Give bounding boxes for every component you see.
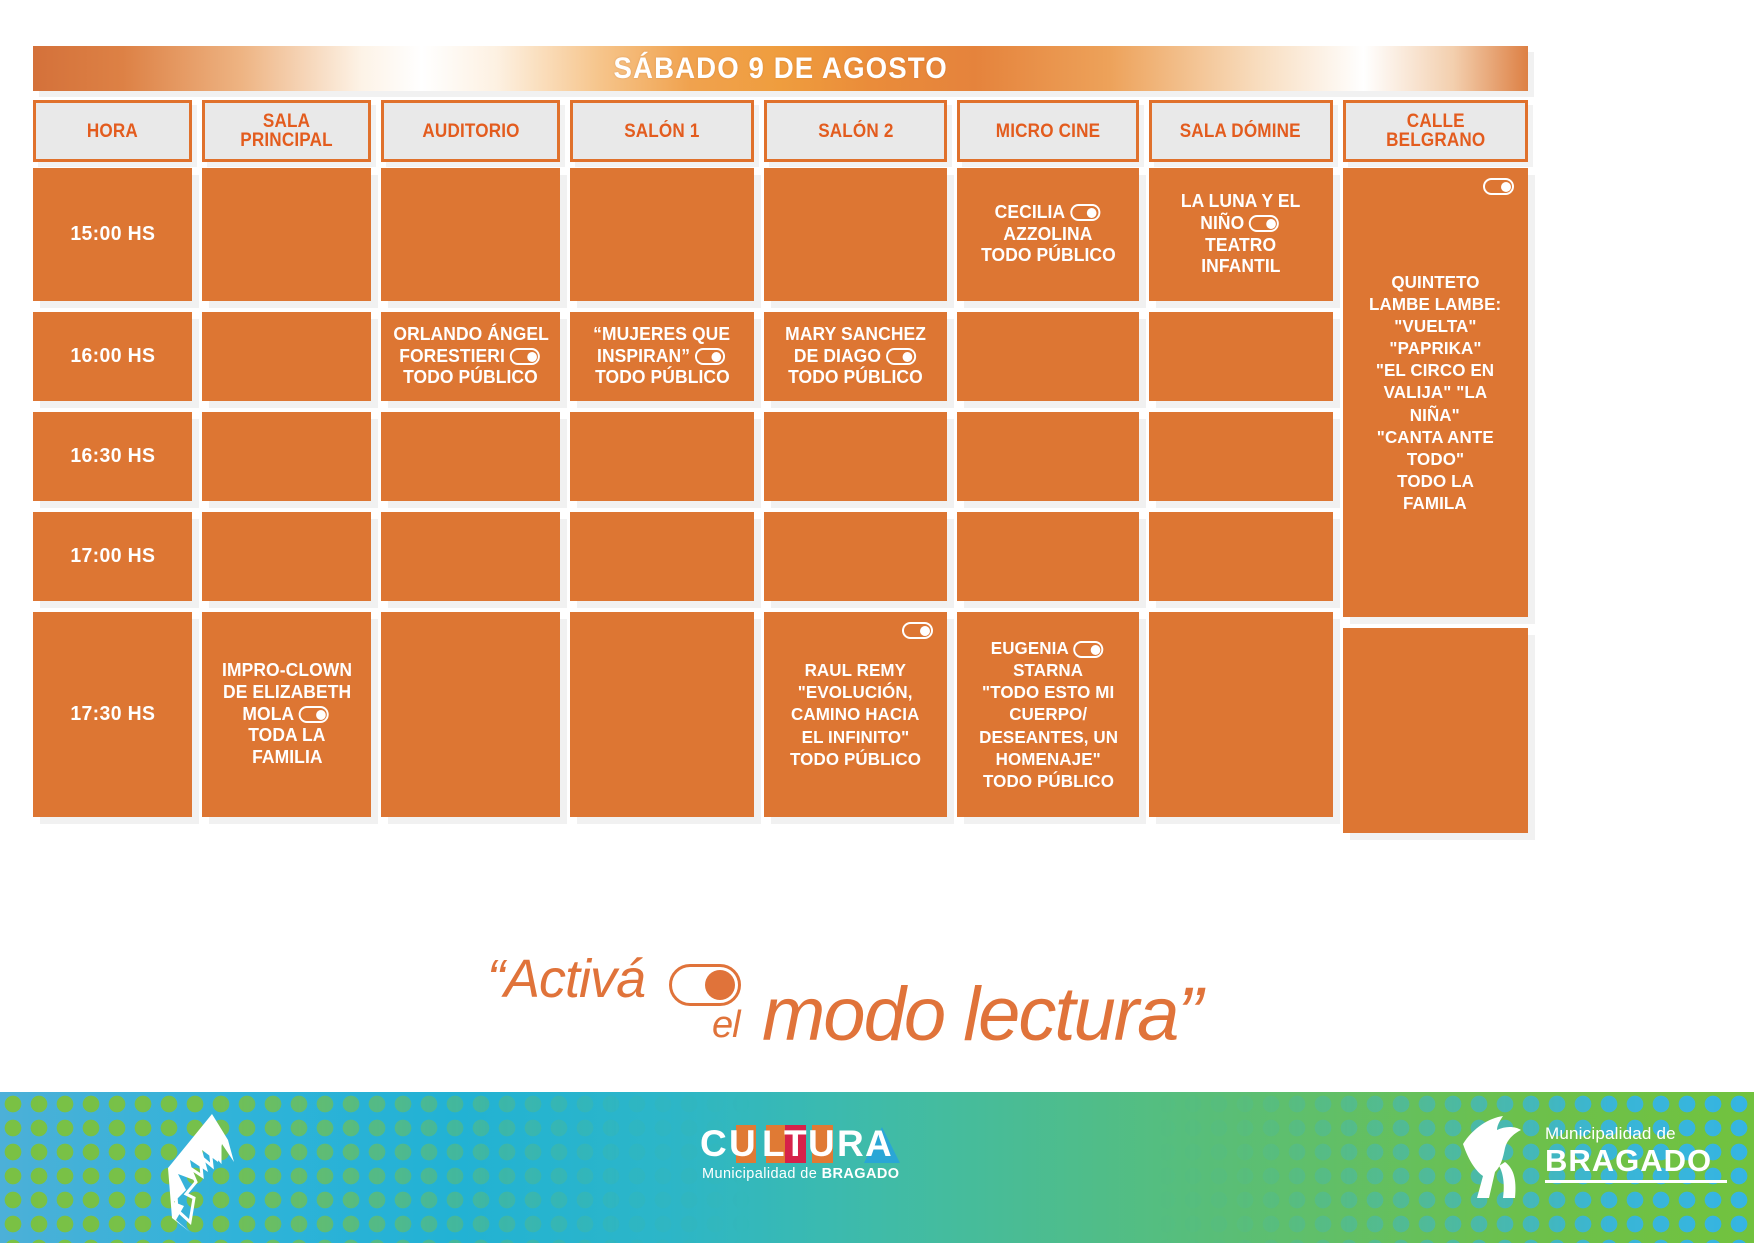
event-line: HOMENAJE"	[996, 748, 1101, 770]
event-audience: TODO LA	[1397, 470, 1474, 492]
event-line: "PAPRIKA"	[1389, 337, 1481, 359]
reading-mode-toggle-icon	[510, 348, 540, 365]
event-line-with-toggle: NIÑO	[1200, 213, 1281, 235]
cultura-subtitle: Municipalidad de BRAGADO	[702, 1166, 899, 1182]
event-cell-empty[interactable]	[957, 512, 1139, 601]
bragado-title: BRAGADO	[1545, 1143, 1712, 1179]
event-cell-empty[interactable]	[381, 612, 560, 817]
event-cell-empty[interactable]	[202, 312, 371, 401]
event-line-with-toggle: EUGENIA	[991, 637, 1106, 659]
event-line: QUINTETO	[1391, 271, 1479, 293]
reading-mode-toggle-icon	[1483, 178, 1514, 195]
event-line-with-toggle: DE DIAGO	[794, 346, 918, 368]
event-cell-empty[interactable]	[570, 512, 754, 601]
event-cell-empty[interactable]	[1343, 628, 1528, 833]
event-cell-empty[interactable]	[1149, 312, 1333, 401]
event-line: NIÑO	[1200, 213, 1244, 233]
cultura-letter: T	[784, 1124, 807, 1164]
event-audience: TODO PÚBLICO	[595, 367, 730, 389]
column-auditorio: ORLANDO ÁNGEL FORESTIERI TODO PÚBLICO	[381, 168, 560, 833]
event-cell-mary-sanchez-de-diago[interactable]: MARY SANCHEZ DE DIAGO TODO PÚBLICO	[764, 312, 948, 401]
event-line: RAUL REMY	[805, 659, 906, 681]
event-cell-empty[interactable]	[570, 612, 754, 817]
event-line: TEATRO	[1205, 235, 1276, 257]
event-cell-orlando-forestieri[interactable]: ORLANDO ÁNGEL FORESTIERI TODO PÚBLICO	[381, 312, 560, 401]
hour-cell: 17:30 HS	[33, 612, 192, 817]
event-line: "VUELTA"	[1394, 315, 1476, 337]
column-header-auditorio: AUDITORIO	[381, 100, 560, 162]
column-header-label: SALA DÓMINE	[1180, 122, 1301, 141]
hour-cell: 16:00 HS	[33, 312, 192, 401]
column-hora: 15:00 HS 16:00 HS 16:30 HS 17:00 HS 17:3…	[33, 168, 192, 833]
column-header-label: HORA	[87, 122, 138, 141]
event-line: CAMINO HACIA	[791, 703, 919, 725]
event-cell-empty[interactable]	[570, 412, 754, 501]
column-header-label: SALÓN 1	[624, 122, 699, 141]
bragado-subtitle: Municipalidad de	[1545, 1124, 1676, 1144]
event-line: AZZOLINA	[1004, 224, 1093, 246]
column-header-sala-principal: SALA PRINCIPAL	[202, 100, 371, 162]
event-cell-impro-clown[interactable]: IMPRO-CLOWN DE ELIZABETH MOLA TODA LA FA…	[202, 612, 371, 817]
event-cell-quinteto-lambe-lambe[interactable]: QUINTETO LAMBE LAMBE: "VUELTA" "PAPRIKA"…	[1343, 168, 1528, 617]
event-cell-empty[interactable]	[764, 168, 948, 301]
event-cell-mujeres-que-inspiran[interactable]: “MUJERES QUE INSPIRAN” TODO PÚBLICO	[570, 312, 754, 401]
event-audience: TODO PÚBLICO	[981, 245, 1116, 267]
event-line: "TODO ESTO MI	[982, 681, 1114, 703]
event-line-with-toggle: MOLA	[243, 704, 332, 726]
cultura-letter: L	[762, 1124, 785, 1164]
event-line: FORESTIERI	[400, 346, 506, 366]
event-line: CUERPO/	[1009, 703, 1087, 725]
bragado-logo: Municipalidad de BRAGADO	[1455, 1110, 1725, 1200]
cultura-subtitle-bold: BRAGADO	[822, 1166, 900, 1182]
event-cell-empty[interactable]	[764, 412, 948, 501]
event-cell-empty[interactable]	[1149, 412, 1333, 501]
event-line: LAMBE LAMBE:	[1369, 293, 1501, 315]
column-salon-2: MARY SANCHEZ DE DIAGO TODO PÚBLICO RAUL …	[764, 168, 948, 833]
column-header-calle-belgrano: CALLE BELGRANO	[1343, 100, 1528, 162]
event-audience: FAMILA	[1403, 492, 1467, 514]
cultura-letter: R	[837, 1124, 864, 1164]
event-cell-empty[interactable]	[202, 412, 371, 501]
event-line-with-toggle: INSPIRAN”	[597, 346, 727, 368]
column-micro-cine: CECILIA AZZOLINA TODO PÚBLICO EUGENIA ST…	[957, 168, 1139, 833]
event-line: TODO"	[1407, 448, 1464, 470]
horse-pen-icon	[150, 1110, 260, 1235]
event-line: VALIJA" "LA	[1383, 381, 1487, 403]
hour-cell: 16:30 HS	[33, 412, 192, 501]
event-line: STARNA	[1013, 659, 1083, 681]
column-salon-1: “MUJERES QUE INSPIRAN” TODO PÚBLICO	[570, 168, 754, 833]
event-cell-empty[interactable]	[957, 412, 1139, 501]
cultura-logo: C U L T U R A Municipalidad de BRAGADO	[700, 1124, 900, 1186]
event-line: ORLANDO ÁNGEL	[393, 324, 548, 346]
event-line: MARY SANCHEZ	[785, 324, 926, 346]
column-header-salon-2: SALÓN 2	[764, 100, 948, 162]
event-line: IMPRO-CLOWN	[222, 660, 352, 682]
event-line: "CANTA ANTE	[1377, 426, 1494, 448]
reading-mode-toggle-icon	[299, 706, 329, 723]
column-sala-domine: LA LUNA Y EL NIÑO TEATRO INFANTIL	[1149, 168, 1333, 833]
tagline-activa: “Activá	[487, 948, 645, 1010]
hour-label: 15:00 HS	[70, 222, 155, 246]
event-line-with-toggle: FORESTIERI	[400, 346, 543, 368]
column-header-micro-cine: MICRO CINE	[957, 100, 1139, 162]
event-line: FAMILIA	[252, 747, 323, 769]
event-cell-empty[interactable]	[957, 312, 1139, 401]
event-audience: TODO PÚBLICO	[788, 367, 923, 389]
column-header-hora: HORA	[33, 100, 192, 162]
event-cell-empty[interactable]	[1149, 612, 1333, 817]
event-line-with-toggle: CECILIA	[994, 202, 1101, 224]
event-cell-empty[interactable]	[570, 168, 754, 301]
bragado-underline	[1545, 1180, 1727, 1183]
event-cell-empty[interactable]	[202, 512, 371, 601]
day-title-band: SÁBADO 9 DE AGOSTO	[33, 46, 1528, 91]
event-audience: TODO PÚBLICO	[790, 748, 921, 770]
column-header-sala-domine: SALA DÓMINE	[1149, 100, 1333, 162]
event-cell-la-luna-y-el-nino[interactable]: LA LUNA Y EL NIÑO TEATRO INFANTIL	[1149, 168, 1333, 301]
cultura-letter: A	[865, 1124, 892, 1164]
event-line: NIÑA"	[1410, 404, 1460, 426]
event-line: "EVOLUCIÓN,	[798, 681, 913, 703]
event-cell-empty[interactable]	[381, 512, 560, 601]
event-line: EUGENIA	[991, 638, 1069, 658]
event-line: LA LUNA Y EL	[1181, 191, 1301, 213]
cultura-letter: U	[808, 1124, 835, 1164]
schedule-poster: SÁBADO 9 DE AGOSTO HORA SALA PRINCIPAL A…	[0, 0, 1754, 1243]
column-calle-belgrano: QUINTETO LAMBE LAMBE: "VUELTA" "PAPRIKA"…	[1343, 168, 1528, 833]
event-audience: TODO PÚBLICO	[403, 367, 538, 389]
event-line: CECILIA	[994, 202, 1065, 222]
event-line: INSPIRAN”	[597, 346, 690, 366]
column-sala-principal: IMPRO-CLOWN DE ELIZABETH MOLA TODA LA FA…	[202, 168, 371, 833]
cultura-subtitle-light: Municipalidad de	[702, 1166, 822, 1182]
column-header-label: SALA PRINCIPAL	[217, 112, 357, 150]
event-cell-eugenia-starna[interactable]: EUGENIA STARNA "TODO ESTO MI CUERPO/ DES…	[957, 612, 1139, 817]
reading-mode-toggle-icon	[886, 348, 916, 365]
event-cell-empty[interactable]	[381, 412, 560, 501]
column-header-salon-1: SALÓN 1	[570, 100, 754, 162]
tagline-el: el	[712, 1004, 740, 1047]
page-title: SÁBADO 9 DE AGOSTO	[613, 52, 947, 86]
column-header-row: HORA SALA PRINCIPAL AUDITORIO SALÓN 1 SA…	[33, 100, 1528, 162]
event-line: INFANTIL	[1201, 256, 1280, 278]
tagline: “Activá el modo lectura”	[0, 948, 1754, 1068]
event-line: "EL CIRCO EN	[1376, 359, 1494, 381]
reading-mode-toggle-icon	[1074, 641, 1104, 658]
tagline-modo-lectura: modo lectura”	[762, 971, 1201, 1058]
event-cell-empty[interactable]	[202, 168, 371, 301]
event-audience: TODO PÚBLICO	[983, 770, 1114, 792]
event-line: DESEANTES, UN	[979, 726, 1118, 748]
column-header-label: SALÓN 2	[818, 122, 893, 141]
column-header-label: AUDITORIO	[422, 122, 519, 141]
event-cell-raul-remy[interactable]: RAUL REMY "EVOLUCIÓN, CAMINO HACIA EL IN…	[764, 612, 948, 817]
reading-mode-toggle-icon	[1070, 204, 1100, 221]
event-line: DE ELIZABETH	[223, 682, 351, 704]
reading-mode-toggle-icon	[902, 622, 933, 639]
hour-label: 16:30 HS	[70, 444, 155, 468]
hour-label: 17:00 HS	[70, 544, 155, 568]
column-header-label: CALLE BELGRANO	[1358, 112, 1512, 150]
event-line: EL INFINITO"	[802, 726, 910, 748]
event-line: MOLA	[243, 704, 295, 724]
schedule-grid: 15:00 HS 16:00 HS 16:30 HS 17:00 HS 17:3…	[33, 168, 1528, 833]
reading-mode-toggle-icon	[695, 348, 725, 365]
event-line: DE DIAGO	[794, 346, 881, 366]
column-header-label: MICRO CINE	[996, 122, 1100, 141]
cultura-letter: U	[729, 1124, 756, 1164]
cultura-letter: C	[700, 1124, 727, 1164]
hour-label: 17:30 HS	[70, 702, 155, 726]
event-line: TODA LA	[248, 725, 325, 747]
halftone-pattern-left	[0, 1092, 760, 1243]
reading-mode-toggle-icon-large	[669, 964, 741, 1006]
event-cell-empty[interactable]	[1149, 512, 1333, 601]
event-cell-empty[interactable]	[381, 168, 560, 301]
event-cell-empty[interactable]	[764, 512, 948, 601]
hour-cell: 15:00 HS	[33, 168, 192, 301]
hour-cell: 17:00 HS	[33, 512, 192, 601]
horse-head-icon	[1455, 1110, 1541, 1198]
event-line: “MUJERES QUE	[593, 324, 730, 346]
reading-mode-toggle-icon	[1249, 215, 1279, 232]
hour-label: 16:00 HS	[70, 344, 155, 368]
event-cell-cecilia-azzolina[interactable]: CECILIA AZZOLINA TODO PÚBLICO	[957, 168, 1139, 301]
